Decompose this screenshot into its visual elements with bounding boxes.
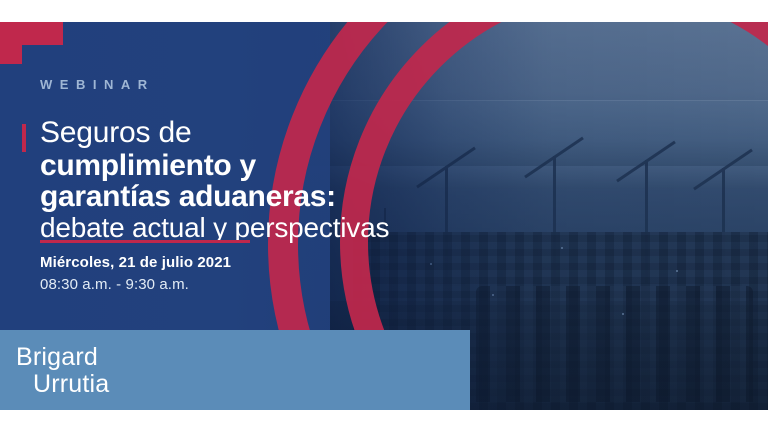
title-accent-bar bbox=[22, 124, 26, 152]
title-line-4: debate actual y perspectivas bbox=[22, 214, 462, 243]
event-datetime: Miércoles, 21 de julio 2021 08:30 a.m. -… bbox=[40, 252, 231, 296]
webinar-poster: WEBINAR Seguros de cumplimiento y garant… bbox=[0, 0, 768, 432]
poster-content: WEBINAR Seguros de cumplimiento y garant… bbox=[0, 0, 470, 432]
logo-line-1: Brigard bbox=[16, 344, 109, 371]
title-line-2: cumplimiento y bbox=[22, 151, 462, 182]
event-time: 08:30 a.m. - 9:30 a.m. bbox=[40, 274, 231, 296]
brigard-urrutia-logo: Brigard Urrutia bbox=[16, 344, 109, 398]
logo-bar: Brigard Urrutia bbox=[0, 330, 470, 410]
title-line-3: garantías aduaneras: bbox=[22, 182, 462, 213]
title-line-1: Seguros de bbox=[22, 118, 462, 149]
title-underline bbox=[40, 240, 250, 243]
event-date: Miércoles, 21 de julio 2021 bbox=[40, 252, 231, 274]
kicker-label: WEBINAR bbox=[40, 77, 155, 92]
title-block: Seguros de cumplimiento y garantías adua… bbox=[22, 118, 462, 242]
logo-line-2: Urrutia bbox=[16, 371, 109, 398]
